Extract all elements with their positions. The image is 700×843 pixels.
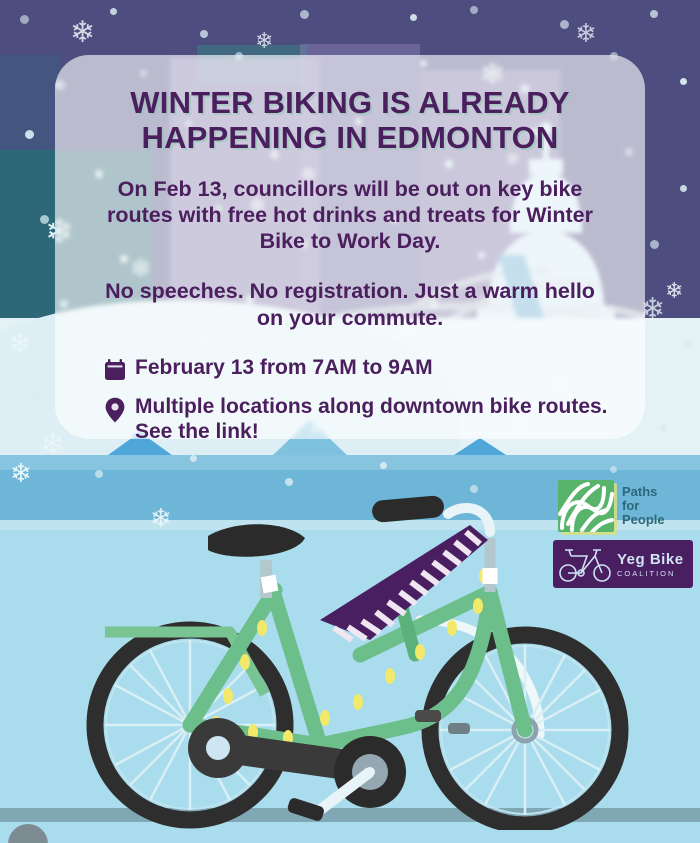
headline-line-1: WINTER BIKING IS ALREADY: [130, 85, 569, 120]
paths-for-people-wordmark: Paths for People: [622, 485, 665, 527]
paragraph-1: On Feb 13, councillors will be out on ke…: [89, 176, 611, 255]
detail-text-date: February 13 from 7AM to 9AM: [135, 355, 433, 380]
winter-biking-poster: ❄❄❄❄❄❄❄❄❄❄❄❄❄❄❄❄❄❄❄❄ WINTER BIKING IS AL…: [0, 0, 700, 843]
p4p-line-3: People: [622, 513, 665, 527]
yeg-bike-title: Yeg Bike: [617, 551, 684, 568]
headline-line-2: HAPPENING IN EDMONTON: [142, 120, 559, 155]
bicycle-illustration: [70, 480, 640, 830]
info-card: WINTER BIKING IS ALREADY HAPPENING IN ED…: [55, 55, 645, 439]
calendar-icon: [95, 355, 135, 382]
logo-paths-for-people[interactable]: Paths for People: [558, 477, 690, 535]
p4p-line-1: Paths: [622, 485, 665, 499]
page-title: WINTER BIKING IS ALREADY HAPPENING IN ED…: [81, 85, 619, 156]
logo-yeg-bike-coalition[interactable]: Yeg Bike COALITION: [553, 540, 693, 588]
detail-row-location: Multiple locations along downtown bike r…: [95, 394, 619, 444]
paragraph-2: No speeches. No registration. Just a war…: [89, 278, 611, 330]
detail-row-date: February 13 from 7AM to 9AM: [95, 355, 619, 382]
paths-for-people-mark-icon: [558, 480, 614, 532]
detail-text-location: Multiple locations along downtown bike r…: [135, 394, 619, 444]
yeg-bike-wordmark: Yeg Bike COALITION: [617, 551, 684, 578]
yeg-bike-subtitle: COALITION: [617, 569, 684, 578]
map-pin-icon: [95, 394, 135, 423]
detail-list: February 13 from 7AM to 9AM Multiple loc…: [95, 355, 619, 444]
p4p-line-2: for: [622, 499, 665, 513]
yeg-bike-mark-icon: [557, 544, 615, 584]
